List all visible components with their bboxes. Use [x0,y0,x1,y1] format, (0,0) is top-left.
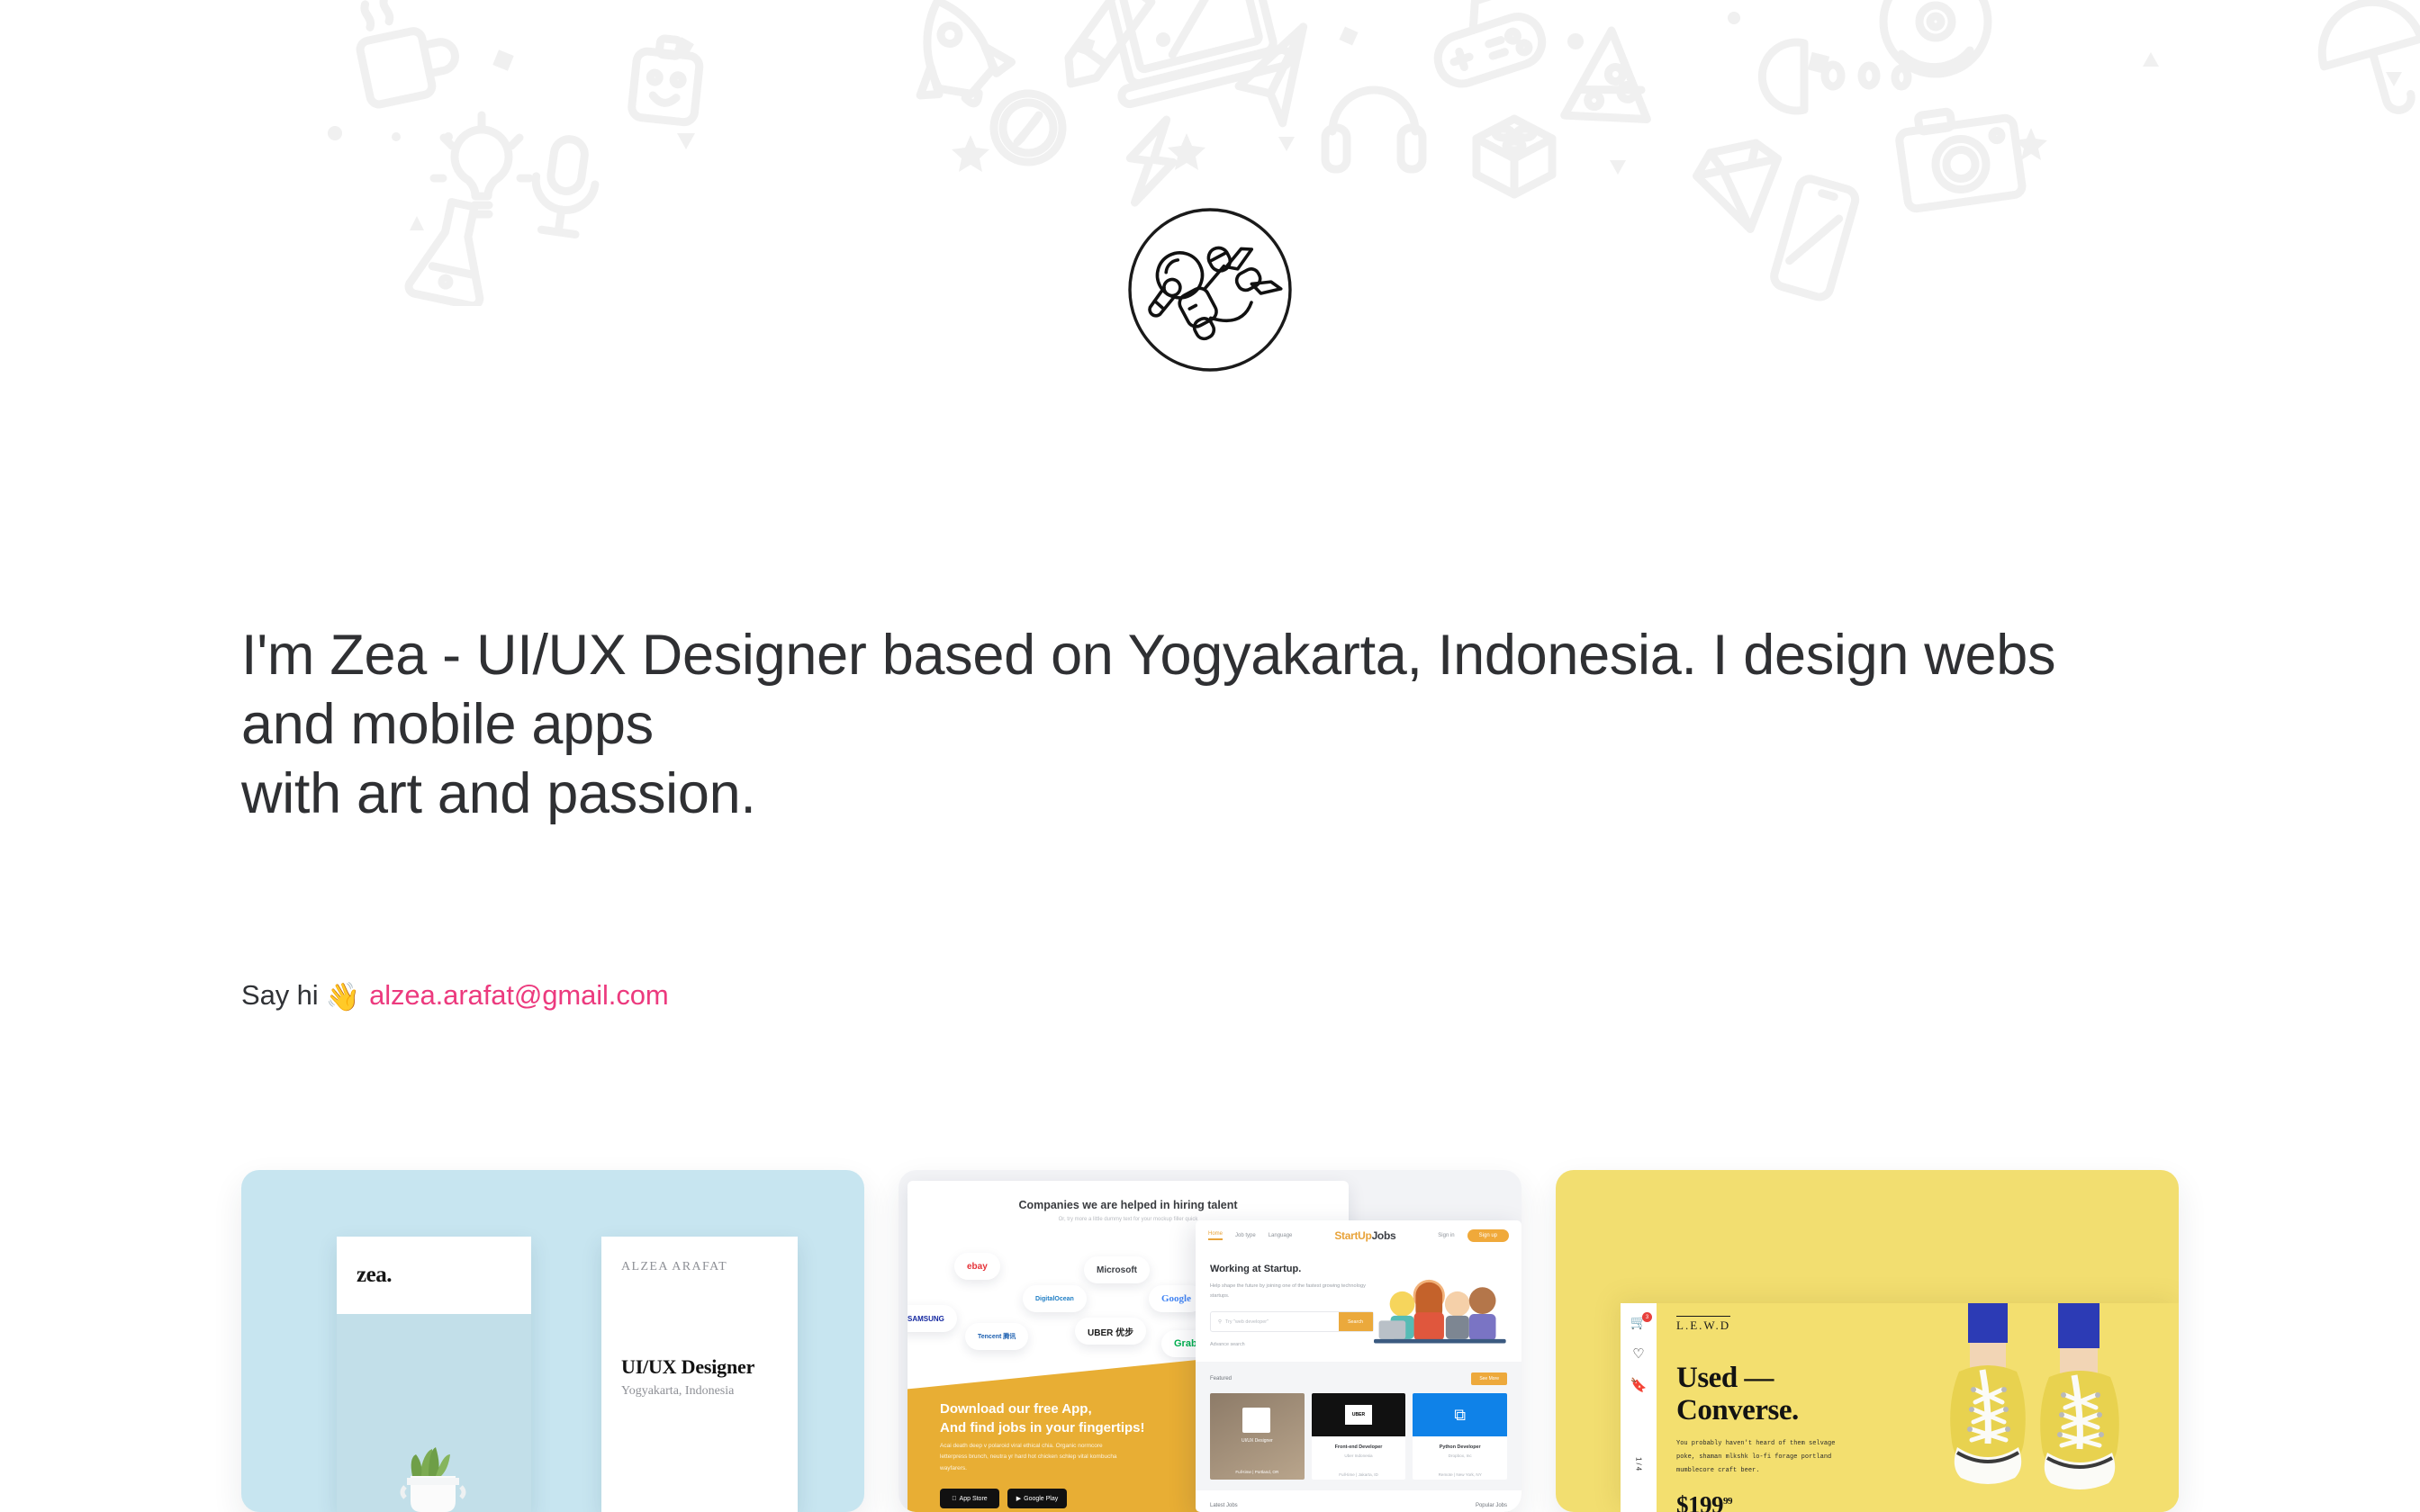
mockup-brand-logo: StartUpJobs [1305,1229,1425,1242]
card-role: UI/UX Designer [621,1355,778,1379]
brand-logo-text: zea. [357,1263,392,1288]
lightning-bolt-icon [1124,115,1179,207]
popular-jobs-filter[interactable]: Popular Jobs [1476,1503,1507,1508]
search-placeholder: Try "web developer" [1225,1319,1269,1325]
project-card-startupjobs[interactable]: Companies we are helped in hiring talent… [898,1170,1522,1512]
laptop-icon [1095,0,1291,105]
business-card-front: zea. [337,1237,531,1512]
app-promo-heading: Download our free App, And find jobs in … [940,1399,1165,1439]
coffee-mug-icon [351,0,462,106]
shop-mockup: 🛒 3 ♡ 🔖 1/4 L.E.W.D Used — Converse. You… [1621,1303,2179,1512]
featured-section: Featured See More Full-time | Portland, … [1196,1362,1522,1490]
umbrella-icon [2310,0,2420,127]
job-card[interactable]: Full-time | Portland, OR UI/UX Designer [1210,1393,1305,1480]
diamond-icon [1693,139,1791,238]
mockup-heading: Companies we are helped in hiring talent [907,1199,1349,1211]
hero-section: I'm Zea - UI/UX Designer based on Yogyak… [241,621,2132,829]
job-card-company: Dropbox, Inc [1413,1453,1507,1458]
job-card-company: Uber Indonesia [1312,1453,1406,1458]
google-play-badge[interactable]: ▶ Google Play [1007,1489,1067,1508]
pencil-icon [1057,0,1151,94]
project-cards: zea. ALZEA ARAFAT UI/UX Designer [241,1170,2179,1512]
mockup-hero-paragraph: Help shape the future by joining one of … [1210,1282,1374,1300]
compass-icon [994,94,1062,162]
nav-language[interactable]: Language [1269,1233,1293,1238]
headphones-icon [1325,90,1422,169]
plant-pot-image [393,1445,474,1512]
job-card[interactable]: UBER Front-end Developer Uber Indonesia … [1312,1393,1406,1480]
logo-pill-digitalocean: DigitalOcean [1023,1285,1087,1312]
apple-icon:  [952,1496,956,1502]
lightbulb-icon [434,115,529,214]
job-card-title: Python Developer [1413,1444,1507,1450]
nav-home[interactable]: Home [1208,1231,1223,1240]
job-card-title: Front-end Developer [1312,1444,1406,1450]
pacman-icon [1762,42,1804,111]
rocket-icon [892,0,1021,120]
job-card-meta: Remote | New York, NY [1413,1472,1507,1477]
job-card-meta: Full-time | Jakarta, ID [1312,1472,1406,1477]
dropbox-logo-icon: ⧉ [1454,1406,1466,1425]
converse-shoes-photo [1882,1303,2179,1512]
pizza-icon [1565,24,1666,135]
lego-head-icon [631,36,702,123]
pacman-dot-icon [1862,66,1876,85]
email-link[interactable]: alzea.arafat@gmail.com [369,977,669,1013]
latest-jobs-label: Latest Jobs [1210,1503,1238,1508]
product-description: You probably haven't heard of them selva… [1676,1437,1853,1477]
pacman-dot-icon [1895,68,1908,86]
mockup-navbar: Home Job type Language StartUpJobs Sign … [1196,1220,1522,1251]
nav-signin[interactable]: Sign in [1438,1233,1454,1238]
astronaut-logo-icon[interactable] [1124,203,1296,376]
job-card-meta: Full-time | Portland, OR [1210,1470,1305,1474]
logo-pill-samsung: SAMSUNG [907,1305,957,1332]
cart-count-badge: 3 [1642,1312,1652,1322]
card-owner-name: ALZEA ARAFAT [621,1260,778,1274]
logo-pill-ebay: ebay [954,1253,1000,1280]
see-more-button[interactable]: See More [1471,1372,1507,1385]
app-promo-paragraph: Acai death deep v polaroid viral ethical… [940,1441,1129,1474]
featured-label: Featured [1210,1376,1232,1381]
nav-signup-button[interactable]: Sign up [1467,1229,1509,1242]
mockup-search-button[interactable]: Search [1339,1312,1373,1331]
mockup-search-input[interactable]: ⚲ Try "web developer" Search [1210,1311,1374,1332]
waving-hand-icon: 👋 [326,983,361,1011]
gamepad-icon [1423,0,1548,90]
shop-brand-logo: L.E.W.D [1676,1316,1730,1333]
camera-icon [1896,103,2023,210]
vinyl-record-icon [1883,0,1988,74]
paper-plane-icon [1233,27,1313,128]
portfolio-page: I'm Zea - UI/UX Designer based on Yogyak… [0,0,2420,1512]
job-card[interactable]: ⧉ Python Developer Dropbox, Inc Remote |… [1413,1393,1507,1480]
logo-pill-microsoft: Microsoft [1084,1256,1150,1283]
app-store-badge[interactable]:  App Store [940,1489,999,1508]
project-card-ecommerce[interactable]: 🛒 3 ♡ 🔖 1/4 L.E.W.D Used — Converse. You… [1556,1170,2179,1512]
store-badges:  App Store ▶ Google Play [940,1489,1067,1508]
page-title: I'm Zea - UI/UX Designer based on Yogyak… [241,621,2132,829]
pacman-dot-icon [1825,65,1841,86]
play-icon: ▶ [1016,1495,1021,1502]
shop-sidebar: 🛒 3 ♡ 🔖 1/4 [1621,1303,1657,1512]
web-mockup-front: Home Job type Language StartUpJobs Sign … [1196,1220,1522,1512]
flask-icon [408,197,499,306]
microphone-icon [529,135,601,236]
bookmark-icon[interactable]: 🔖 [1630,1379,1648,1392]
business-card-back: ALZEA ARAFAT UI/UX Designer Yogyakarta, … [601,1237,798,1512]
job-card-title: UI/UX Designer [1210,1438,1305,1444]
uber-logo-icon: UBER [1345,1405,1372,1425]
contact-row: Say hi 👋 alzea.arafat@gmail.com [241,977,669,1013]
contact-label: Say hi [241,977,319,1013]
nav-jobtype[interactable]: Job type [1235,1233,1256,1238]
team-illustration [1374,1264,1508,1347]
shop-pager: 1/4 [1635,1457,1643,1472]
logo-pill-tencent: Tencent 腾讯 [965,1323,1028,1350]
project-card-branding[interactable]: zea. ALZEA ARAFAT UI/UX Designer [241,1170,864,1512]
heart-icon[interactable]: ♡ [1632,1347,1644,1361]
search-icon: ⚲ [1218,1319,1222,1325]
smartphone-icon [1772,176,1858,300]
confetti-shapes [328,12,2402,230]
mockup-hero-heading: Working at Startup. [1210,1264,1374,1274]
advance-search-link[interactable]: Advance search [1210,1342,1374,1347]
logo-pill-uber: UBER 优步 [1075,1318,1146,1345]
lego-brick-icon [1476,119,1552,194]
card-location: Yogyakarta, Indonesia [621,1384,778,1399]
